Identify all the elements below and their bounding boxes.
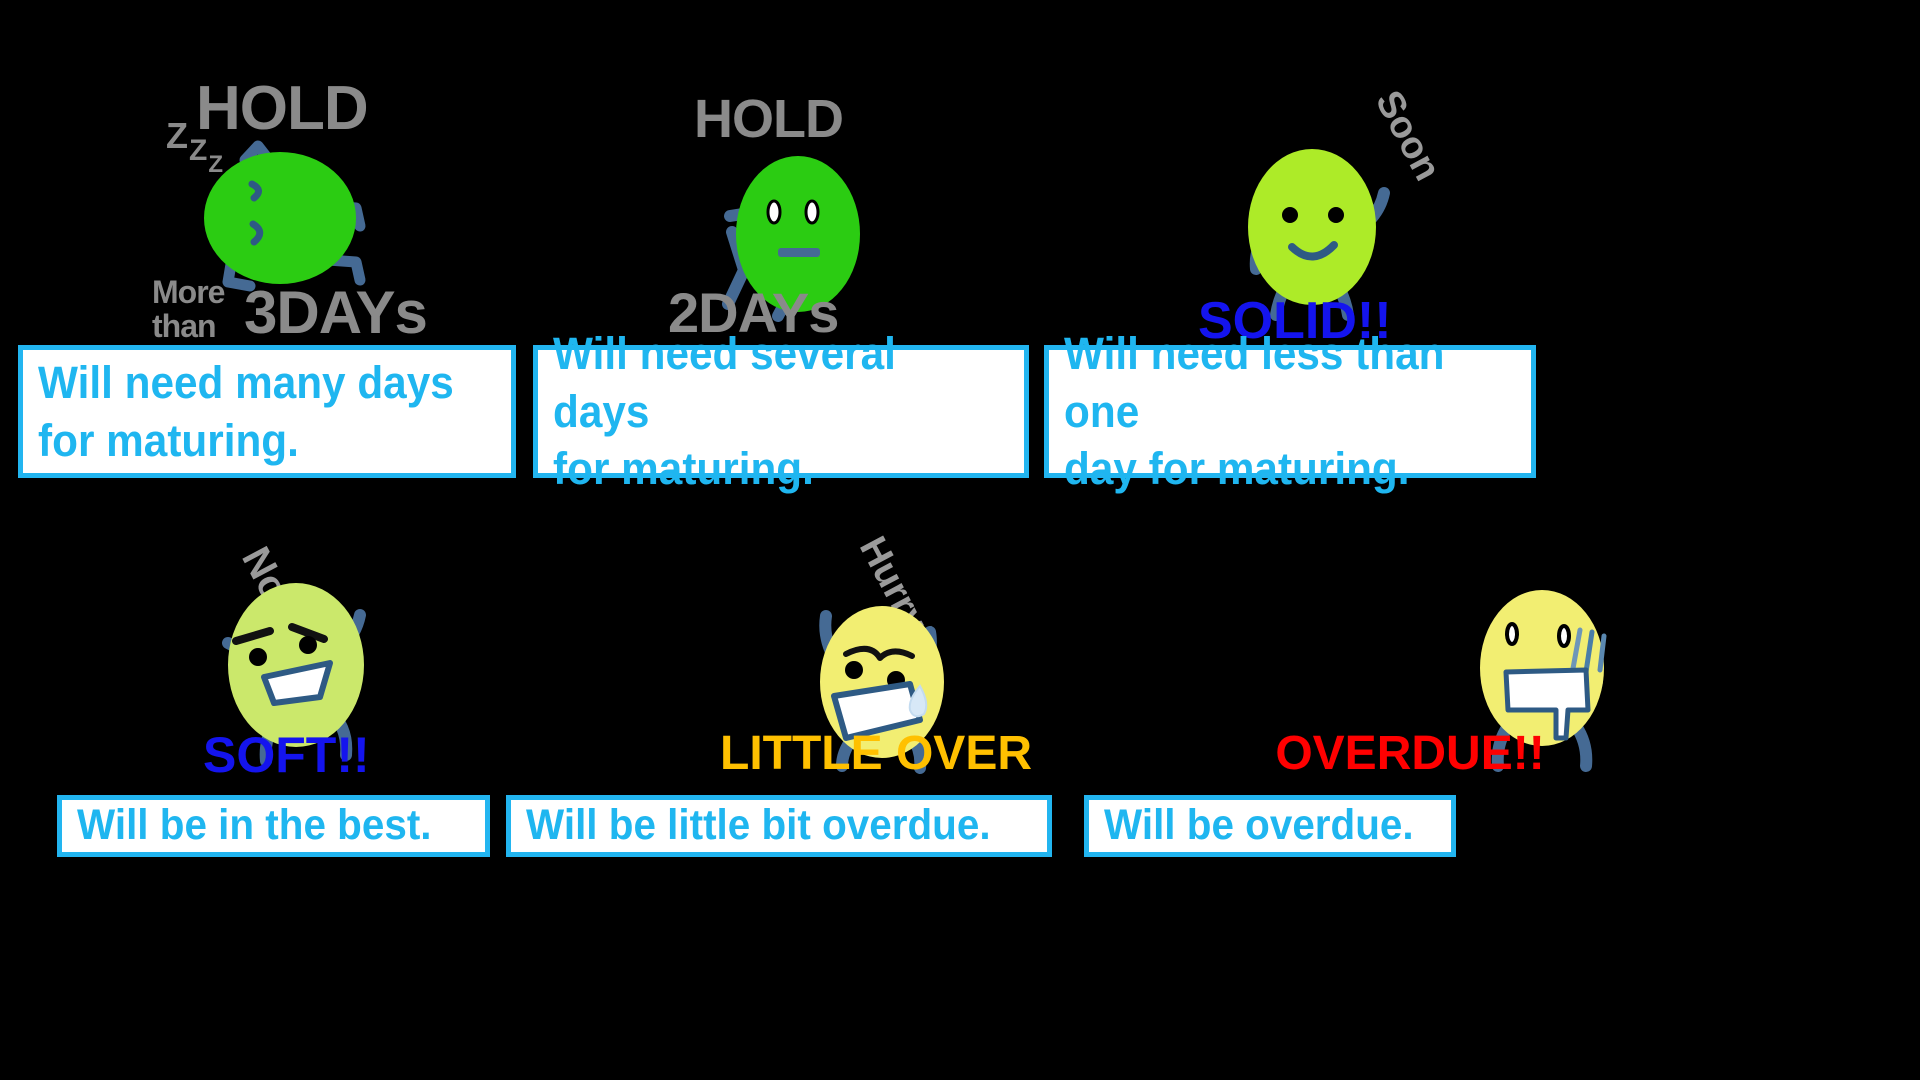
panel2-headline: HOLD	[694, 92, 843, 146]
panel1-prefix: More than	[152, 276, 224, 343]
caption-text-soft: Will be in the best.	[62, 798, 432, 853]
caption-text-solid: Will need less than one day for maturing…	[1049, 325, 1502, 498]
panel-little-over: Hurry! L	[620, 510, 1140, 970]
panel1-prefix-line1: More	[152, 276, 224, 310]
panel5-status: LITTLE OVER	[616, 730, 1136, 778]
panel1-prefix-line2: than	[152, 310, 224, 344]
caption-box-hold-2days: Will need several days for maturing.	[533, 345, 1029, 478]
caption-box-hold-3days: Will need many days for maturing.	[18, 345, 516, 478]
caption-box-little-over: Will be little bit overdue.	[506, 795, 1052, 857]
infographic-canvas: HOLD ZZZ More than 3DAYs Will	[0, 0, 1920, 1080]
panel4-status: SOFT!!	[203, 730, 370, 780]
caption-box-solid: Will need less than one day for maturing…	[1044, 345, 1536, 478]
caption-box-overdue: Will be overdue.	[1084, 795, 1456, 857]
smiling-egg-icon	[1200, 135, 1430, 315]
panel1-duration: 3DAYs	[244, 283, 427, 343]
panel-overdue: OVERDUE!!	[1140, 510, 1680, 970]
caption-text-overdue: Will be overdue.	[1089, 798, 1414, 853]
caption-text-little-over: Will be little bit overdue.	[511, 798, 991, 853]
caption-text-hold-3days: Will need many days for maturing.	[23, 354, 454, 469]
caption-text-hold-2days: Will need several days for maturing.	[538, 325, 995, 498]
panel6-status: OVERDUE!!	[1140, 730, 1680, 778]
panel-soft: Now! SOFT!!	[0, 510, 520, 970]
caption-box-soft: Will be in the best.	[57, 795, 490, 857]
